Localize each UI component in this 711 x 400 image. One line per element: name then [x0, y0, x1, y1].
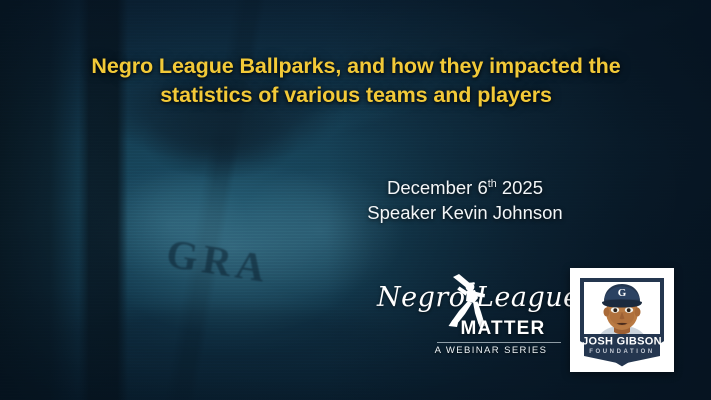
slide-meta: December 6th 2025 Speaker Kevin Johnson: [300, 175, 630, 225]
negro-leagues-matter-logo: Negro Leagues: [377, 274, 561, 364]
svg-text:G: G: [618, 287, 627, 299]
event-date: December 6th 2025: [300, 175, 630, 200]
event-speaker: Speaker Kevin Johnson: [300, 200, 630, 225]
negro-leagues-tagline: A WEBINAR SERIES: [421, 345, 561, 356]
event-date-suffix: 2025: [497, 177, 543, 198]
slide-title: Negro League Ballparks, and how they imp…: [40, 52, 672, 110]
presentation-title-slide: GRA Negro League Ballparks, and how they…: [0, 0, 711, 400]
josh-gibson-foundation-mark: G JOSH GIBSON FOUNDATION: [570, 268, 674, 372]
slide-title-line-2: statistics of various teams and players: [40, 81, 672, 110]
event-date-prefix: December 6: [387, 177, 488, 198]
slide-title-line-1: Negro League Ballparks, and how they imp…: [91, 54, 620, 78]
negro-leagues-divider: [437, 342, 561, 343]
negro-leagues-script: Negro Leagues: [377, 274, 561, 322]
negro-leagues-matter-headline: MATTER: [445, 318, 561, 340]
jgf-name-text: JOSH GIBSON: [582, 336, 662, 348]
event-date-ordinal: th: [488, 178, 497, 190]
jgf-sub-text: FOUNDATION: [589, 349, 655, 355]
josh-gibson-foundation-logo: G JOSH GIBSON FOUNDATION: [570, 268, 674, 372]
